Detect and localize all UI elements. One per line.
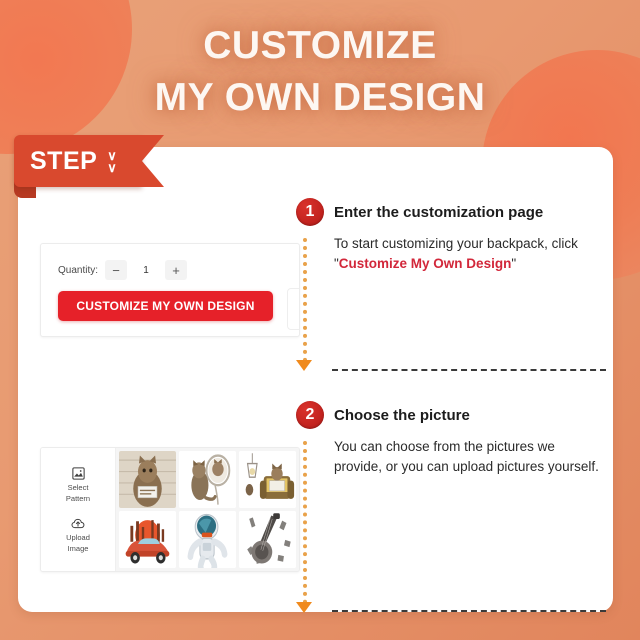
step-2-title: Choose the picture <box>334 401 611 429</box>
upload-image-label-line-1: Upload <box>66 533 90 542</box>
quantity-increment-button[interactable]: + <box>165 260 187 280</box>
step-1-body-suffix: " <box>511 256 516 271</box>
step-2-body: You can choose from the pictures we prov… <box>334 437 606 477</box>
electric-guitar-thumbnail[interactable] <box>239 511 296 568</box>
select-pattern-label-line-1: Select <box>68 483 89 492</box>
pattern-thumbnail-grid <box>116 448 299 571</box>
step-connector-arrow-1 <box>296 360 312 371</box>
editor-tool-rail: Select Pattern Upload Image <box>41 448 116 571</box>
cat-reading-armchair-thumbnail[interactable] <box>239 451 296 508</box>
step-2-badge: 2 <box>296 401 324 429</box>
cat-mirror-thumbnail[interactable] <box>179 451 236 508</box>
poster-canvas: CUSTOMIZE MY OWN DESIGN STEP ∨ ∨ Quantit… <box>0 0 640 640</box>
step-2-divider <box>332 610 606 612</box>
upload-image-icon <box>70 516 86 531</box>
quantity-decrement-button[interactable]: − <box>105 260 127 280</box>
product-page-screenshot: Quantity: − 1 + CUSTOMIZE MY OWN DESIGN <box>40 243 300 337</box>
select-pattern-label-line-2: Pattern <box>66 494 90 503</box>
chevron-down-icon: ∨ ∨ <box>102 146 122 176</box>
customize-my-own-design-button[interactable]: CUSTOMIZE MY OWN DESIGN <box>58 291 273 321</box>
page-title-line-2: MY OWN DESIGN <box>0 74 640 122</box>
step-connector-arrow-2 <box>296 602 312 613</box>
step-1-title: Enter the customization page <box>334 198 611 226</box>
quantity-label: Quantity: <box>58 265 98 276</box>
product-page-side-box <box>287 288 300 330</box>
step-1-body-highlight: Customize My Own Design <box>339 256 512 271</box>
quantity-stepper[interactable]: Quantity: − 1 + <box>58 260 187 280</box>
select-pattern-tool[interactable]: Select Pattern <box>66 466 90 503</box>
cat-mugshot-thumbnail[interactable] <box>119 451 176 508</box>
chevron-down-icon-bottom: ∨ <box>107 162 117 173</box>
step-1-body: To start customizing your backpack, clic… <box>334 234 606 274</box>
astronaut-thumbnail[interactable] <box>179 511 236 568</box>
page-title-line-1: CUSTOMIZE <box>203 24 436 67</box>
step-2-body-text: You can choose from the pictures we prov… <box>334 439 599 474</box>
page-title: CUSTOMIZE MY OWN DESIGN <box>0 22 640 122</box>
step-ribbon: STEP ∨ ∨ <box>14 135 142 187</box>
select-pattern-icon <box>71 466 86 481</box>
step-2: 2 Choose the picture You can choose from… <box>296 401 611 477</box>
retro-car-sunset-thumbnail[interactable] <box>119 511 176 568</box>
upload-image-tool[interactable]: Upload Image <box>66 516 90 553</box>
step-1-badge: 1 <box>296 198 324 226</box>
pattern-chooser-screenshot: Select Pattern Upload Image <box>40 447 300 572</box>
chevron-down-icon-top: ∨ <box>107 150 117 161</box>
step-1-divider <box>332 369 606 371</box>
upload-image-label-line-2: Image <box>68 544 89 553</box>
step-1: 1 Enter the customization page To start … <box>296 198 611 274</box>
step-ribbon-label: STEP <box>30 147 97 175</box>
quantity-value[interactable]: 1 <box>134 265 158 276</box>
